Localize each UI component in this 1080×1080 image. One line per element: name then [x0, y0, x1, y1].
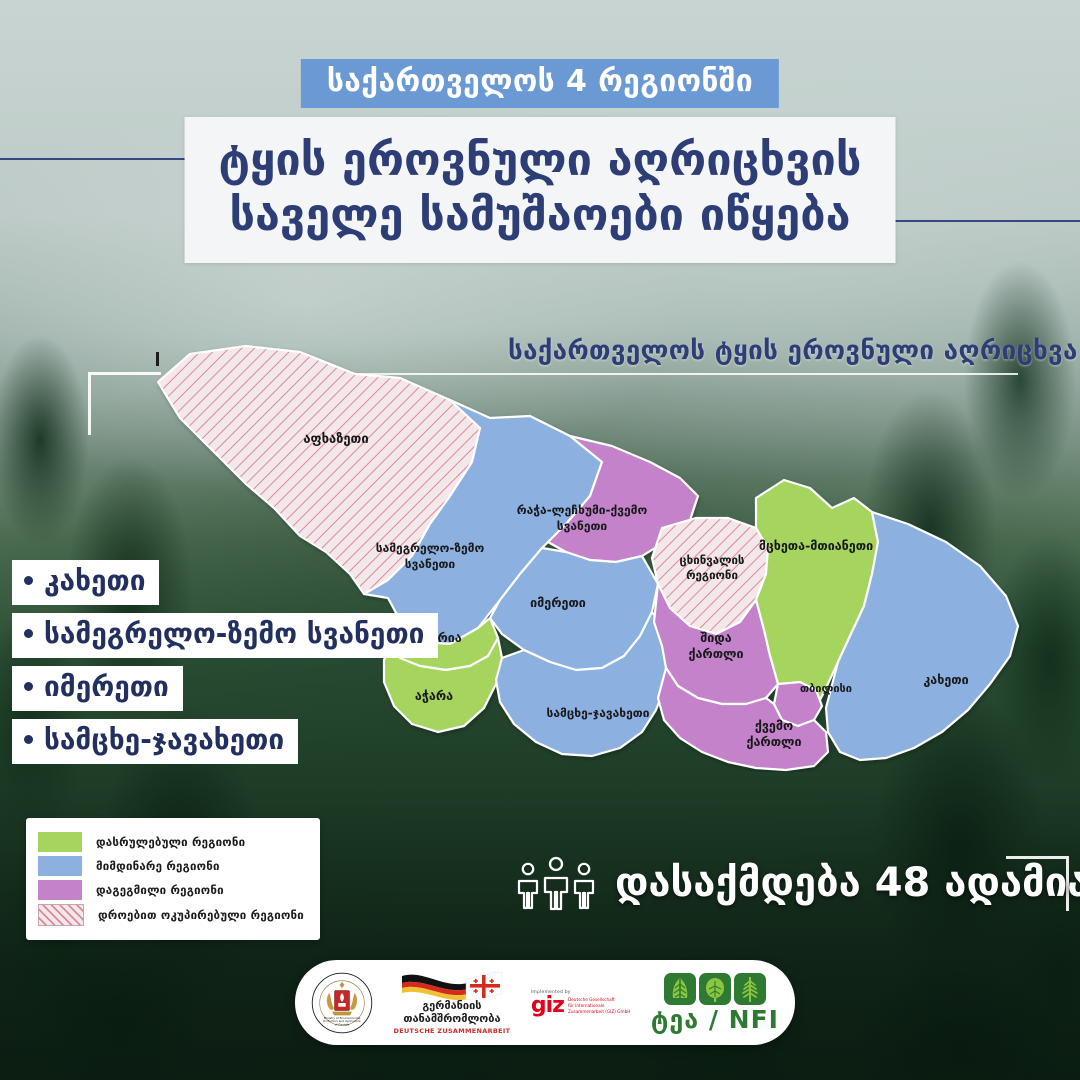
- employment-stat: დასაქმდება 48 ადამიანი: [515, 855, 1080, 911]
- german-cooperation-logo: გერმანიის თანამშრომლობა DEUTSCHE ZUSAMME…: [394, 970, 511, 1035]
- legend-item-planned: დაგეგმილი რეგიონი: [38, 880, 304, 900]
- list-item: იმერეთი: [12, 666, 183, 711]
- three-people-icon: [515, 855, 597, 911]
- bullet-dot-icon: [24, 576, 33, 585]
- label-tbilisi: თბილისი: [800, 682, 852, 695]
- label-shida-2: ქართლი: [688, 646, 743, 661]
- german-georgian-flag-ribbon-icon: [400, 970, 504, 1000]
- giz-wordmark: giz: [531, 997, 564, 1016]
- label-mtskheta-mtianeti: მცხეთა-მთიანეთი: [759, 538, 873, 553]
- broadleaf-icon: [664, 973, 696, 1005]
- giz-subtitle: Deutsche Gesellschaft für Internationale…: [568, 997, 630, 1014]
- nfi-label: ტეა / NFI: [651, 1007, 779, 1032]
- conifer-icon: [734, 973, 766, 1005]
- legend-item-completed: დასრულებული რეგიონი: [38, 832, 304, 852]
- list-item-label: სამცხე-ჯავახეთი: [44, 723, 284, 756]
- legend-swatch-occupied: [38, 904, 84, 926]
- legend-label-ongoing: მიმდინარე რეგიონი: [96, 859, 220, 873]
- employment-stat-text: დასაქმდება 48 ადამიანი: [615, 863, 1080, 903]
- list-item: კახეთი: [12, 560, 159, 605]
- person-icon: [541, 855, 571, 911]
- map-legend: დასრულებული რეგიონი მიმდინარე რეგიონი და…: [26, 818, 320, 940]
- label-kvemo-1: ქვემო: [755, 718, 793, 733]
- list-item-label: სამეგრელო-ზემო სვანეთი: [44, 617, 424, 650]
- footer-logo-bar: Ministry of Environmental Protection and…: [295, 960, 795, 1045]
- eyebrow-banner: საქართველოს 4 რეგიონში: [301, 59, 779, 108]
- page-title-line-1: ტყის ეროვნული აღრიცხვის: [219, 133, 862, 188]
- legend-label-planned: დაგეგმილი რეგიონი: [96, 883, 224, 897]
- infographic-poster: საქართველოს 4 რეგიონში ტყის ეროვნული აღრ…: [0, 0, 1080, 1080]
- giz-subtitle-line2: für Internationale: [568, 1003, 604, 1008]
- legend-swatch-completed: [38, 832, 82, 852]
- ministry-seal-icon: Ministry of Environmental Protection and…: [311, 972, 373, 1034]
- label-shida-1: შიდა: [700, 630, 731, 645]
- legend-item-occupied: დროებით ოკუპირებული რეგიონი: [38, 904, 304, 926]
- bullet-dot-icon: [24, 735, 33, 744]
- list-item-label: კახეთი: [44, 564, 145, 597]
- person-icon: [515, 861, 541, 911]
- label-tskhinvali-2: რეგიონი: [686, 568, 738, 582]
- nfi-leaf-icons: [664, 973, 766, 1005]
- list-item: სამცხე-ჯავახეთი: [12, 719, 298, 764]
- german-cooperation-label-ka-line1: გერმანიის: [422, 1000, 481, 1013]
- label-abkhazeti: აფხაზეთი: [303, 432, 368, 447]
- bullet-dot-icon: [24, 682, 33, 691]
- label-imereti: იმერეთი: [530, 595, 586, 610]
- label-samtskhe-javakheti: სამცხე-ჯავახეთი: [547, 706, 650, 720]
- page-title: ტყის ეროვნული აღრიცხვის საველე სამუშაოებ…: [185, 117, 896, 263]
- legend-swatch-planned: [38, 880, 82, 900]
- label-racha-1: რაჭა-ლეჩხუმი-ქვემო: [517, 503, 648, 517]
- person-icon: [571, 861, 597, 911]
- label-kakheti: კახეთი: [923, 672, 968, 687]
- giz-subtitle-line1: Deutsche Gesellschaft: [568, 997, 615, 1002]
- page-title-line-2: საველე სამუშაოები იწყება: [219, 188, 862, 243]
- list-item: სამეგრელო-ზემო სვანეთი: [12, 613, 438, 658]
- nfi-logo: ტეა / NFI: [651, 973, 779, 1032]
- legend-label-occupied: დროებით ოკუპირებული რეგიონი: [98, 908, 304, 922]
- label-samegrelo-1: სამეგრელო-ზემო: [376, 541, 485, 555]
- legend-item-ongoing: მიმდინარე რეგიონი: [38, 856, 304, 876]
- tree-icon: [699, 973, 731, 1005]
- giz-subtitle-line3: Zusammenarbeit (GIZ) GmbH: [568, 1009, 630, 1014]
- label-tskhinvali-1: ცხინვალის: [680, 553, 745, 567]
- svg-text:of Georgia: of Georgia: [335, 1022, 350, 1026]
- bullet-dot-icon: [24, 629, 33, 638]
- legend-swatch-ongoing: [38, 856, 82, 876]
- german-cooperation-label-de: DEUTSCHE ZUSAMMENARBEIT: [394, 1027, 511, 1035]
- german-cooperation-label-ka-line2: თანამშრომლობა: [403, 1013, 500, 1026]
- label-kvemo-2: ქართლი: [746, 734, 801, 749]
- target-regions-list: კახეთი სამეგრელო-ზემო სვანეთი იმერეთი სა…: [12, 560, 438, 772]
- list-item-label: იმერეთი: [44, 670, 169, 703]
- legend-label-completed: დასრულებული რეგიონი: [96, 835, 245, 849]
- label-racha-2: სვანეთი: [557, 519, 608, 533]
- giz-logo: Implemented by giz Deutsche Gesellschaft…: [531, 990, 631, 1016]
